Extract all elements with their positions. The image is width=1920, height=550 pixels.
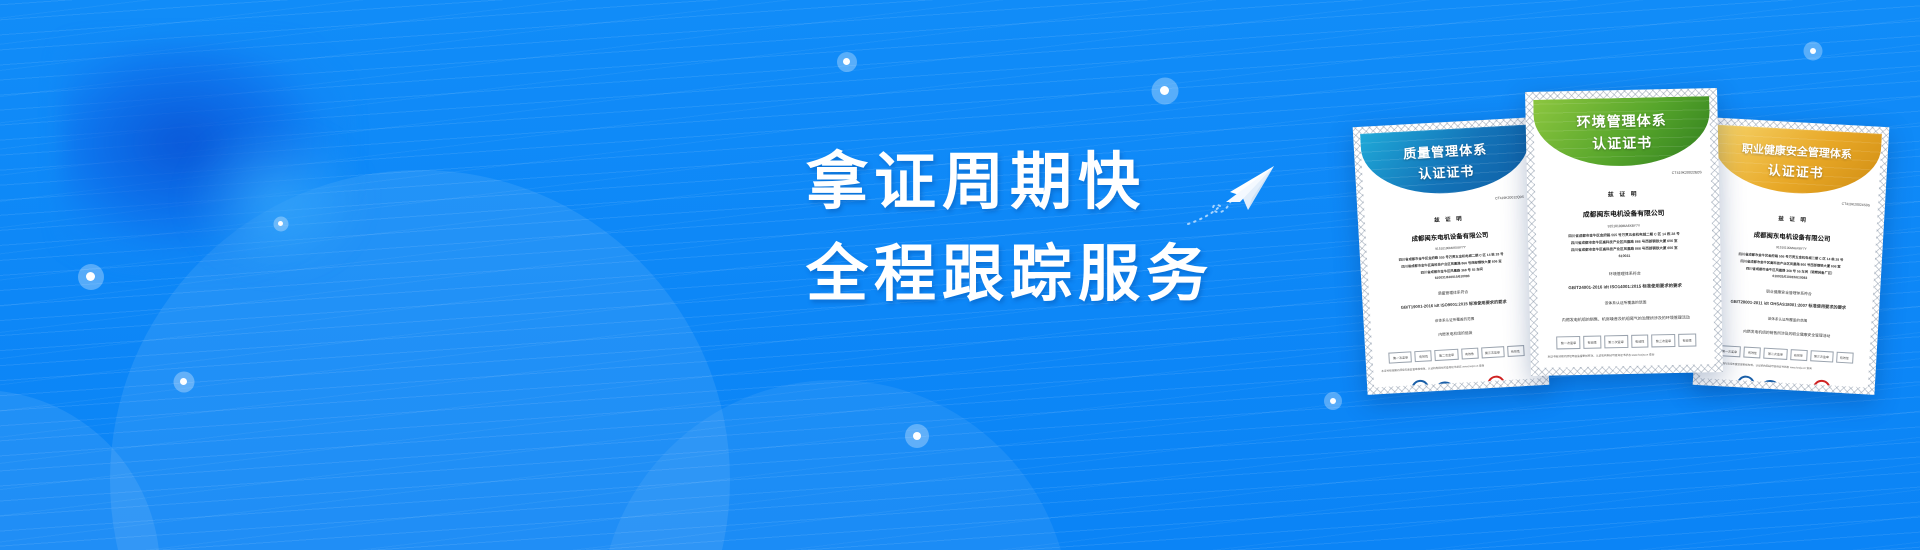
audit-cell: 有效性 xyxy=(1744,347,1762,359)
audit-cell: 有效性 xyxy=(1631,335,1649,348)
audit-cell: 有效性 xyxy=(1415,350,1433,362)
audit-cell: 有效性 xyxy=(1678,334,1696,347)
certificate-number: CT419K20012Q0S xyxy=(1372,195,1524,207)
audit-cell: 有效性 xyxy=(1507,345,1525,357)
certificate-header: 质量管理体系 认证证书 xyxy=(1360,125,1531,198)
certificate-header: 职业健康安全管理体系 认证证书 xyxy=(1711,125,1882,198)
audit-cell: 有效性 xyxy=(1836,352,1854,364)
headline-block: 拿证周期快 全程跟踪服务 xyxy=(806,136,1214,320)
audit-cell: 第三次监审 xyxy=(1481,346,1505,358)
hero-banner: 拿证周期快 全程跟踪服务 质量管理体系 认证证书 CT419K20012Q xyxy=(0,0,1920,550)
postcode: 610031 xyxy=(1545,252,1703,259)
scope-title: 该体系认证所覆盖的范围 xyxy=(1379,314,1531,327)
audit-cell: 有效性 xyxy=(1583,336,1601,349)
certificate-number: CT419K20024S0S xyxy=(1718,195,1870,207)
decorative-dot xyxy=(1160,86,1169,95)
audit-cell: 第二次监审 xyxy=(1604,335,1628,348)
audit-table: 第一次监审 有效性 第二次监审 有效性 第三次监审 有效性 xyxy=(1547,333,1705,349)
statement-label: 兹 证 明 xyxy=(1373,211,1525,227)
decorative-glow-blob-light xyxy=(185,125,365,275)
audit-cell: 有效性 xyxy=(1461,348,1479,360)
scope-text: 内燃发电机组的销售所涉及的职业健康安全管理活动 xyxy=(1711,328,1863,341)
company-name: 成都闽东电机设备有限公司 xyxy=(1545,206,1703,219)
scope-title: 该体系认证所覆盖的范围 xyxy=(1546,299,1704,307)
decorative-dot xyxy=(86,272,95,281)
certificate-environment[interactable]: 环境管理体系 认证证书 CT419K20022E0S 兹 证 明 成都闽东电机设… xyxy=(1525,88,1723,376)
statement-label: 兹 证 明 xyxy=(1717,211,1869,227)
certificate-title-line2: 认证证书 xyxy=(1592,132,1652,153)
audit-cell: 有效性 xyxy=(1790,349,1808,361)
decorative-dot xyxy=(1330,398,1336,404)
audit-cell: 第三次监审 xyxy=(1810,350,1834,362)
decorative-dot xyxy=(278,221,283,226)
decorative-dot xyxy=(180,378,187,385)
headline-line-1: 拿证周期快 xyxy=(806,136,1214,228)
audit-cell: 第一次监审 xyxy=(1556,336,1580,349)
standard-reference: GB/T19001-2016 idt ISO9001:2015 标准使用要求的要… xyxy=(1378,298,1530,312)
decorative-dot xyxy=(1810,48,1816,54)
scope-text: 内燃发电机组的组装 xyxy=(1379,328,1531,341)
footnote: 本证书有效期内须经年度监督审核有效，认证机构网站可查询证书状态 www.hxcj… xyxy=(1548,351,1706,358)
audit-cell: 第三次监审 xyxy=(1651,334,1675,347)
scope-title: 该体系认证所覆盖的范围 xyxy=(1711,314,1863,327)
standard-reference: GB/T28001-2011 idt OHSAS18001:2007 标准使用要… xyxy=(1712,298,1864,312)
certificate-quality[interactable]: 质量管理体系 认证证书 CT419K20012Q0S 兹 证 明 成都闽东电机设… xyxy=(1353,117,1550,395)
certificate-title-line1: 环境管理体系 xyxy=(1576,110,1666,132)
standard-reference: GB/T24001-2016 idt ISO14001:2015 标准使用要求的… xyxy=(1546,282,1704,291)
certificate-title-line2: 认证证书 xyxy=(1418,161,1475,183)
certificate-group: 质量管理体系 认证证书 CT419K20012Q0S 兹 证 明 成都闽东电机设… xyxy=(1360,78,1900,398)
decorative-dot xyxy=(913,432,921,440)
audit-cell: 第一次监审 xyxy=(1389,351,1413,363)
decorative-dot xyxy=(843,58,850,65)
scope-text: 内燃发电机组的销售、机房噪音及机组尾气的治理所涉及的环境管理活动 xyxy=(1547,314,1705,323)
paper-plane-icon xyxy=(1186,158,1276,228)
audit-cell: 第二次监审 xyxy=(1435,349,1459,361)
headline-line-2: 全程跟踪服务 xyxy=(806,228,1214,320)
audit-cell: 第二次监审 xyxy=(1764,348,1788,360)
certificate-header: 环境管理体系 认证证书 xyxy=(1533,96,1710,168)
statement-label: 兹 证 明 xyxy=(1544,187,1702,199)
credit-code: 91510100MA6X8Y7Y xyxy=(1545,222,1703,229)
certificate-number: CT419K20022E0S xyxy=(1544,170,1702,177)
certificate-title-line2: 认证证书 xyxy=(1767,159,1824,181)
system-name: 环境管理体系符合 xyxy=(1546,269,1704,278)
